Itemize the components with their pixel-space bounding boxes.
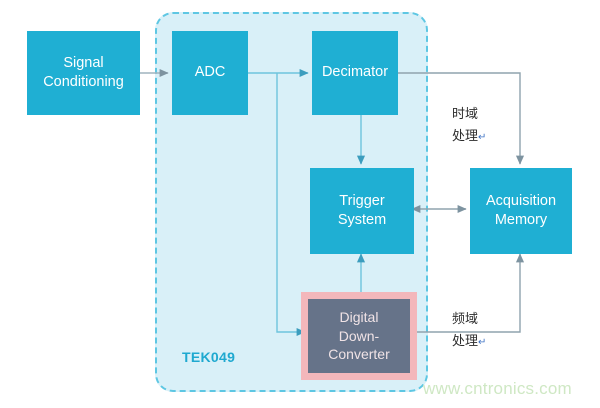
node-label: Signal Conditioning — [43, 54, 124, 92]
node-label: Acquisition Memory — [486, 192, 556, 230]
edge-label-frequency-domain: 频域 处理↵ — [452, 288, 486, 352]
site-watermark: www.cntronics.com — [423, 379, 572, 399]
node-decimator[interactable]: Decimator — [312, 31, 398, 115]
node-digital-down-converter[interactable]: Digital Down- Converter — [301, 292, 417, 380]
node-adc[interactable]: ADC — [172, 31, 248, 115]
node-acquisition-memory[interactable]: Acquisition Memory — [470, 168, 572, 254]
diagram-canvas: Signal Conditioning ADC Decimator Trigge… — [0, 0, 600, 408]
tek049-group-label: TEK049 — [182, 349, 235, 365]
node-trigger-system[interactable]: Trigger System — [310, 168, 414, 254]
edge-label-time-domain: 时域 处理↵ — [452, 83, 486, 147]
edge-label-text: 时域 处理 — [452, 107, 478, 143]
node-label: Decimator — [322, 63, 388, 82]
pilcrow-mark: ↵ — [478, 132, 486, 143]
node-label: Digital Down- Converter — [328, 308, 389, 363]
pilcrow-mark: ↵ — [478, 337, 486, 348]
node-signal-conditioning[interactable]: Signal Conditioning — [27, 31, 140, 115]
node-label: ADC — [195, 63, 226, 82]
node-label: Trigger System — [338, 192, 386, 230]
edge-label-text: 频域 处理 — [452, 312, 478, 348]
